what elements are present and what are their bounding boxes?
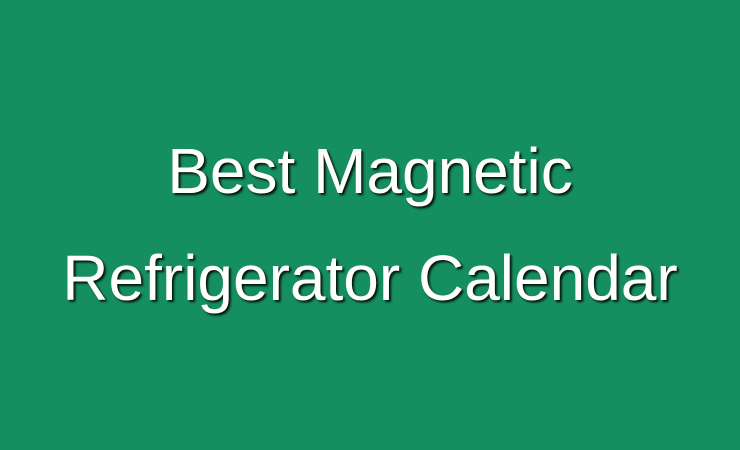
banner: Best Magnetic Refrigerator Calendar [0, 0, 740, 450]
page-title: Best Magnetic Refrigerator Calendar [0, 118, 740, 332]
